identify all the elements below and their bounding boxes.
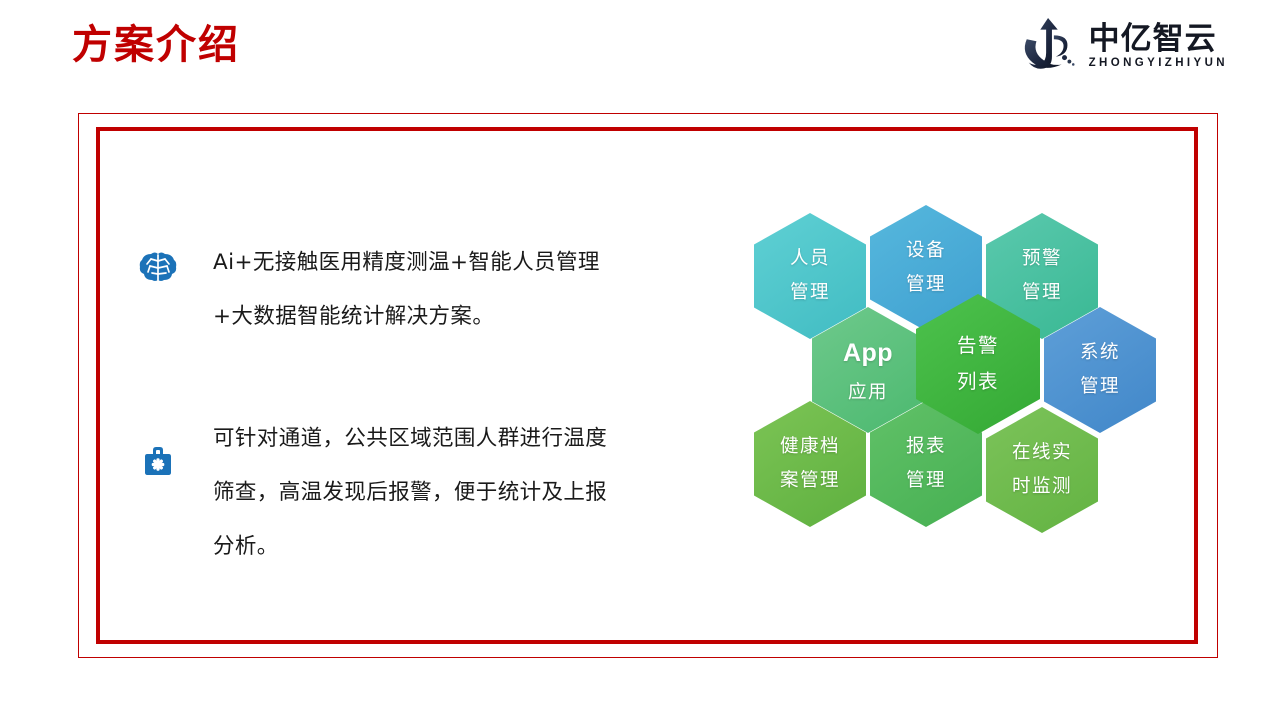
hexagon-module-diagram: 人员管理设备管理预警管理App应用告警列表系统管理健康档案管理报表管理在线实时监… (742, 205, 1192, 575)
brain-icon (138, 248, 178, 288)
bullet-item-1: Ai+无接触医用精度测温+智能人员管理 +大数据智能统计解决方案。 (138, 236, 678, 344)
hex-cell-warning-management-line-2: 管理 (1022, 276, 1062, 310)
hex-cell-online-realtime-monitoring-line-1: 在线实 (1012, 436, 1072, 470)
hex-cell-app-application-line-2: 应用 (848, 376, 888, 410)
logo-name-en: ZHONGYIZHIYUN (1089, 57, 1228, 71)
bullet-1-line-2: +大数据智能统计解决方案。 (213, 290, 600, 344)
bullet-2-line-1: 可针对通道，公共区域范围人群进行温度 (213, 412, 607, 466)
hex-cell-device-management-line-1: 设备 (906, 234, 946, 268)
hex-cell-app-application-line-1: App (843, 330, 893, 376)
hex-cell-report-management-line-2: 管理 (906, 464, 946, 498)
bullet-item-2: 可针对通道，公共区域范围人群进行温度 筛查，高温发现后报警，便于统计及上报 分析… (138, 412, 678, 574)
hex-cell-health-record-management-line-1: 健康档 (780, 430, 840, 464)
hex-cell-health-record-management-line-2: 案管理 (780, 464, 840, 498)
bullet-1-line-1: Ai+无接触医用精度测温+智能人员管理 (213, 236, 600, 290)
bullet-2-text: 可针对通道，公共区域范围人群进行温度 筛查，高温发现后报警，便于统计及上报 分析… (213, 412, 607, 574)
logo-name-cn: 中亿智云 (1089, 23, 1217, 56)
hex-cell-alarm-list-line-1: 告警 (957, 328, 999, 364)
bullet-2-line-2: 筛查，高温发现后报警，便于统计及上报 (213, 466, 607, 520)
brand-logo: 中亿智云 ZHONGYIZHIYUN (1019, 14, 1228, 80)
hex-cell-personnel-management-line-2: 管理 (790, 276, 830, 310)
zhongyi-swoosh-logo-icon (1019, 16, 1081, 78)
bullet-2-line-3: 分析。 (213, 520, 607, 574)
hex-cell-online-realtime-monitoring-line-2: 时监测 (1012, 470, 1072, 504)
bullet-1-text: Ai+无接触医用精度测温+智能人员管理 +大数据智能统计解决方案。 (213, 236, 600, 344)
hex-cell-warning-management-line-1: 预警 (1022, 242, 1062, 276)
hex-cell-online-realtime-monitoring[interactable]: 在线实时监测 (986, 407, 1098, 533)
hex-cell-system-management-line-2: 管理 (1080, 370, 1120, 404)
hex-cell-personnel-management-line-1: 人员 (790, 242, 830, 276)
logo-wordmark: 中亿智云 ZHONGYIZHIYUN (1089, 23, 1228, 71)
hex-cell-report-management-line-1: 报表 (906, 430, 946, 464)
medical-kit-icon (138, 442, 178, 482)
hex-cell-system-management-line-1: 系统 (1080, 336, 1120, 370)
page-title: 方案介绍 (72, 22, 240, 68)
hex-cell-device-management-line-2: 管理 (906, 268, 946, 302)
hex-cell-alarm-list-line-2: 列表 (957, 364, 999, 400)
